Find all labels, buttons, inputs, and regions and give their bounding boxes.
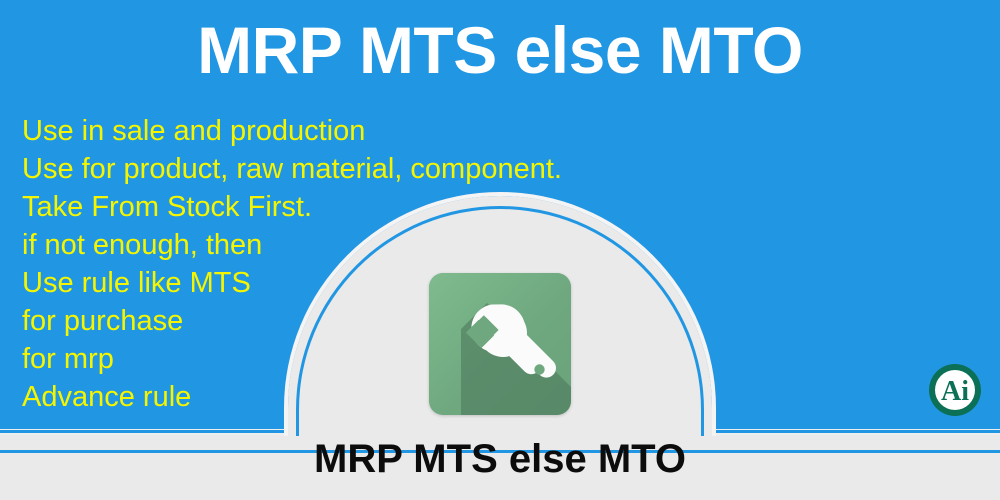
bullet-item: if not enough, then [22,226,722,264]
bullet-item: Use for product, raw material, component… [22,150,722,188]
ai-badge-text: Ai [941,376,969,407]
bullet-item: for purchase [22,302,722,340]
wrench-icon[interactable] [429,273,571,415]
bullet-item: Use rule like MTS [22,264,722,302]
ai-logo-badge[interactable]: Ai [927,362,983,418]
bullet-item: Advance rule [22,378,722,416]
bullet-item: Take From Stock First. [22,188,722,226]
slide-title: MRP MTS else MTO [0,14,1000,87]
slide-caption: MRP MTS else MTO [0,437,1000,481]
bullet-list: Use in sale and production Use for produ… [22,112,722,416]
slide-canvas: MRP MTS else MTO Use in sale and product… [0,0,1000,500]
bullet-item: Use in sale and production [22,112,722,150]
bullet-item: for mrp [22,340,722,378]
